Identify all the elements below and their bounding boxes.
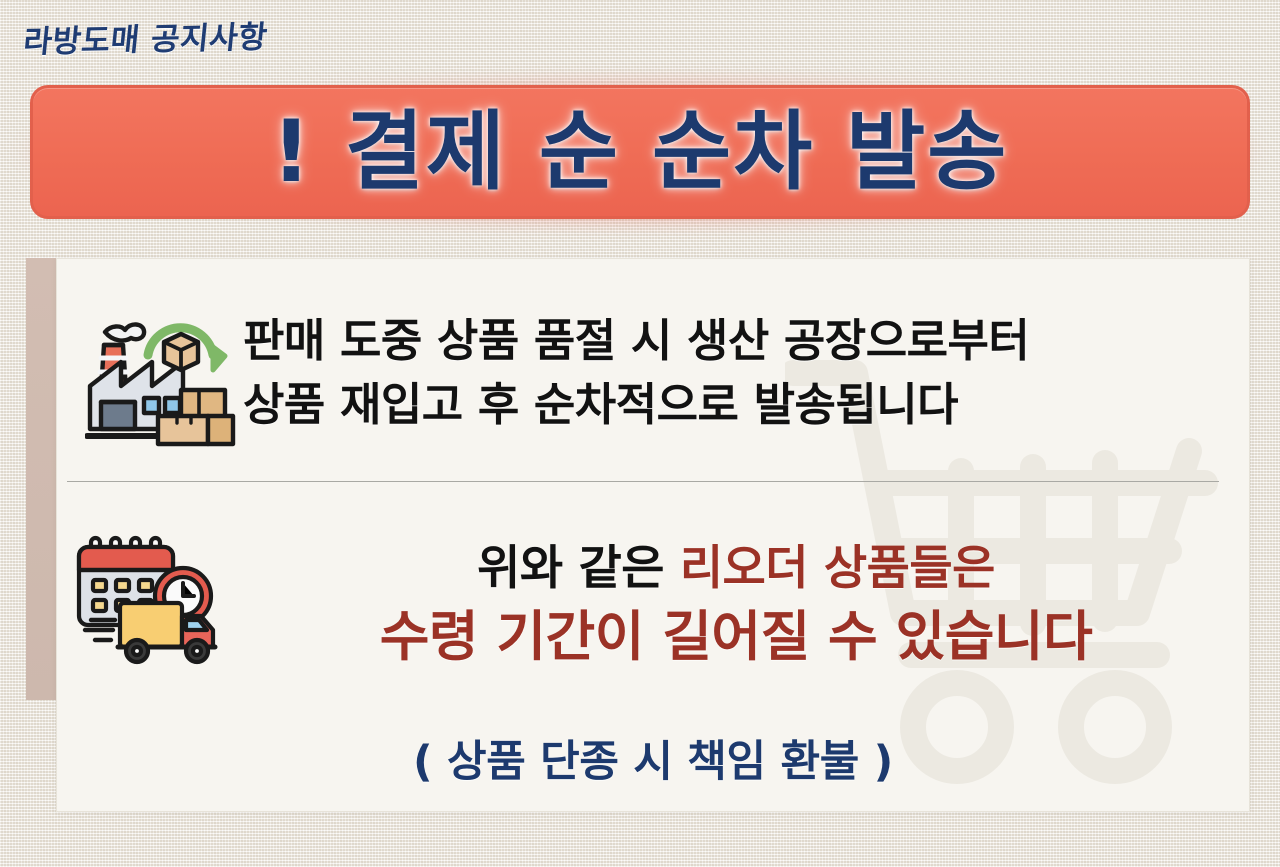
restock-line-1: 판매 도중 상품 품절 시 생산 공장으로부터 [243, 309, 1229, 373]
reorder-line-1-emphasis: 리오더 상품들은 [680, 541, 995, 596]
announcement-banner: ! 결제 순 순차 발송 [30, 85, 1250, 219]
factory-restock-icon-box [79, 298, 243, 448]
notice-section-reorder: 위와 같은 리오더 상품들은 수령 기간이 길어질 수 있습니다 [67, 509, 1229, 699]
factory-restock-icon [85, 298, 237, 448]
reorder-line-1: 위와 같은 리오더 상품들은 [243, 537, 1229, 602]
brand-notice-heading: 라방도매 공지사항 [21, 11, 270, 61]
card-accent-strip [26, 258, 58, 700]
refund-note: ( 상품 단종 시 책임 환불 ) [57, 727, 1249, 789]
calendar-clock-truck-icon [73, 534, 237, 674]
banner-title: ! 결제 순 순차 발송 [272, 109, 1009, 195]
restock-line-2: 상품 재입고 후 순차적으로 발송됩니다 [243, 373, 1229, 437]
card-content: 판매 도중 상품 품절 시 생산 공장으로부터 상품 재입고 후 순차적으로 발… [57, 259, 1249, 811]
reorder-line-1-plain: 위와 같은 [477, 541, 680, 596]
reorder-line-2: 수령 기간이 길어질 수 있습니다 [243, 602, 1229, 671]
banner-body: ! 결제 순 순차 발송 [30, 85, 1250, 219]
notice-card: 판매 도중 상품 품절 시 생산 공장으로부터 상품 재입고 후 순차적으로 발… [56, 258, 1250, 812]
calendar-clock-truck-icon-box [67, 534, 243, 674]
restock-text-column: 판매 도중 상품 품절 시 생산 공장으로부터 상품 재입고 후 순차적으로 발… [243, 309, 1229, 437]
notice-section-restock: 판매 도중 상품 품절 시 생산 공장으로부터 상품 재입고 후 순차적으로 발… [79, 283, 1229, 463]
section-divider [67, 481, 1219, 482]
reorder-text-column: 위와 같은 리오더 상품들은 수령 기간이 길어질 수 있습니다 [243, 537, 1229, 671]
